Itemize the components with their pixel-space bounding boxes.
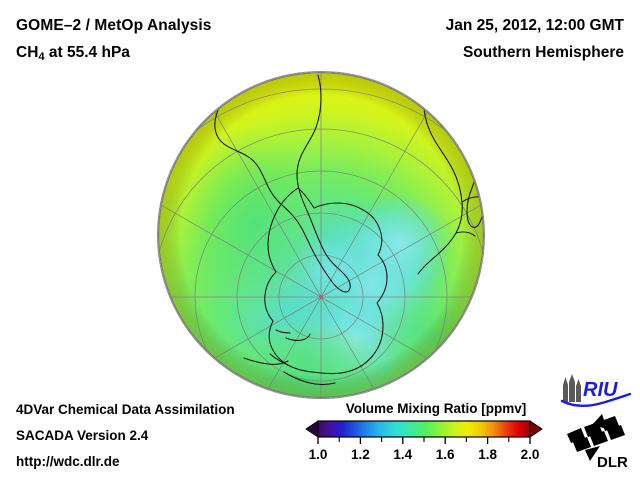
colorbar [302,418,546,446]
title-instrument: GOME–2 / MetOp Analysis [16,17,212,35]
colorbar-svg [302,418,546,446]
colorbar-extend-max [530,421,542,437]
colorbar-minor-ticks [339,437,509,442]
title-datetime: Jan 25, 2012, 12:00 GMT [446,17,624,35]
species-prefix: CH [16,44,38,61]
colorbar-gradient [318,421,530,437]
colorbar-tick-label-1: 1.2 [351,447,370,462]
colorbar-tick-label-5: 2.0 [521,447,540,462]
riu-wordmark: RIU [583,379,618,401]
globe-disc [158,72,484,398]
globe-svg [158,72,484,398]
colorbar-extend-min [306,421,318,437]
dlr-logo-svg: DLR [561,412,631,470]
footer-method: 4DVar Chemical Data Assimilation [16,402,235,417]
dlr-wordmark: DLR [597,454,628,470]
colorbar-tick-label-3: 1.6 [436,447,455,462]
footer-version: SACADA Version 2.4 [16,428,148,443]
colorbar-title: Volume Mixing Ratio [ppmv] [326,401,546,416]
dlr-logo: DLR [561,412,631,470]
globe-field [158,72,484,398]
riu-logo: RIU [558,374,632,408]
riu-towers-icon [563,374,581,402]
footer-url[interactable]: http://wdc.dlr.de [16,454,120,469]
colorbar-tick-label-4: 1.8 [478,447,497,462]
title-region: Southern Hemisphere [463,44,624,62]
figure-canvas: GOME–2 / MetOp Analysis CH4 at 55.4 hPa … [0,0,640,480]
species-level: at 55.4 hPa [45,44,130,61]
colorbar-tick-labels: 1.0 1.2 1.4 1.6 1.8 2.0 [302,447,546,467]
riu-logo-svg: RIU [558,374,632,408]
title-species: CH4 at 55.4 hPa [16,44,130,63]
colorbar-tick-label-0: 1.0 [309,447,328,462]
colorbar-tick-label-2: 1.4 [393,447,412,462]
south-pole-marker [319,295,323,299]
map-globe [158,72,484,398]
